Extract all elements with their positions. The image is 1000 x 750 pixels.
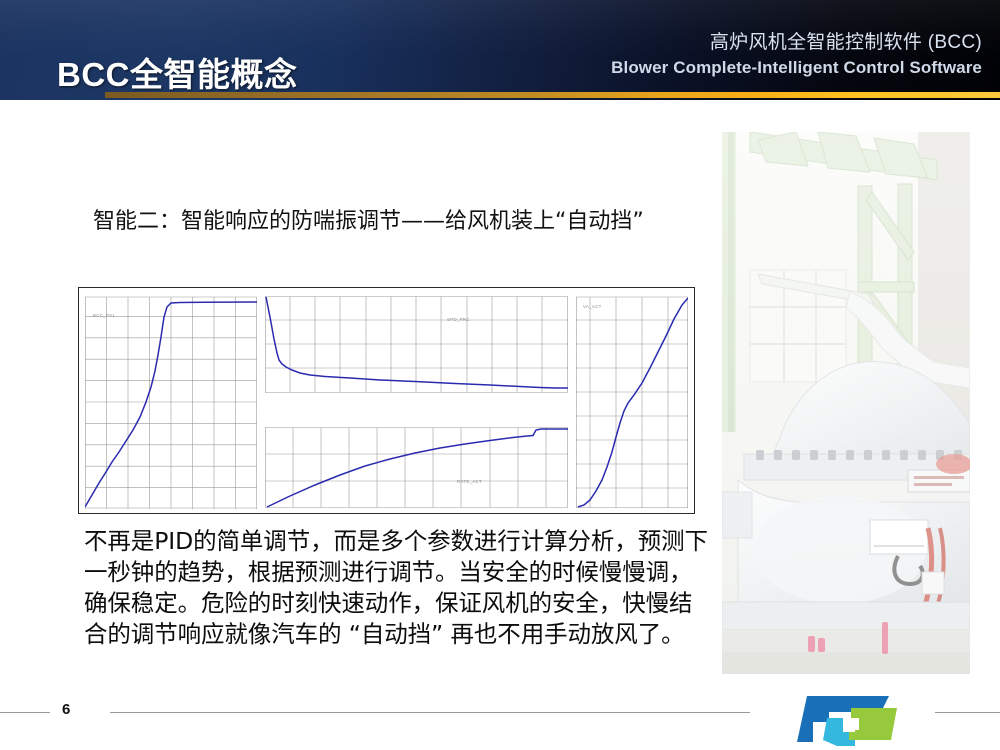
page-number: 6: [62, 701, 70, 718]
page-title: BCC全智能概念: [57, 48, 298, 96]
photo-illustration: [722, 132, 970, 674]
chart-svg-left: [85, 295, 257, 509]
chart-label-left: BCC_PV1: [93, 313, 115, 318]
logo-icon: [793, 692, 908, 748]
slide-subtitle: 智能二：智能响应的防喘振调节——给风机装上“自动挡”: [93, 203, 644, 235]
chart-svg-topmid: [265, 295, 568, 394]
chart-pane-right: VA_ACT: [576, 295, 688, 509]
slide-header: BCC全智能概念 高炉风机全智能控制软件 (BCC) Blower Comple…: [0, 0, 1000, 100]
footer-divider-mid: [110, 712, 750, 713]
product-name-cn: 高炉风机全智能控制软件 (BCC): [611, 30, 982, 56]
chart-pane-left: BCC_PV1: [85, 295, 257, 509]
header-product-block: 高炉风机全智能控制软件 (BCC) Blower Complete-Intell…: [611, 30, 982, 80]
company-logo: [793, 692, 908, 748]
trend-chart-panel: BCC_PV1: [78, 287, 695, 514]
blower-photo: [722, 132, 970, 674]
chart-pane-botmid: RATE_ACT: [265, 426, 568, 509]
chart-pane-topmid: SPD_PRC: [265, 295, 568, 394]
chart-label-topmid: SPD_PRC: [447, 317, 470, 322]
footer-divider-right: [935, 712, 1000, 713]
product-name-en: Blower Complete-Intelligent Control Soft…: [611, 56, 982, 80]
header-accent-bar: [105, 92, 1000, 98]
chart-svg-right: [576, 295, 688, 509]
chart-label-right: VA_ACT: [583, 304, 602, 309]
footer-divider-left: [0, 712, 50, 713]
chart-svg-botmid: [265, 426, 568, 509]
body-paragraph: 不再是PID的简单调节，而是多个参数进行计算分析，预测下一秒钟的趋势，根据预测进…: [84, 526, 710, 650]
chart-label-botmid: RATE_ACT: [457, 479, 482, 484]
